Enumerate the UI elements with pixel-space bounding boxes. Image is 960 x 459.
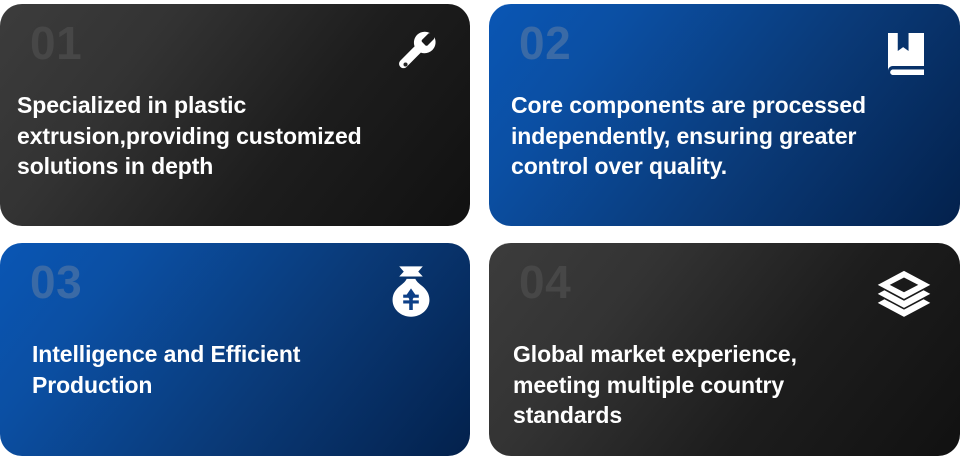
wrench-icon: [388, 26, 444, 82]
feature-card-02[interactable]: 02 Core components are processed indepen…: [489, 4, 960, 226]
card-title: Global market experience, meeting multip…: [513, 339, 936, 431]
card-title: Core components are processed independen…: [511, 90, 936, 182]
card-number: 04: [519, 259, 571, 305]
feature-card-04[interactable]: 04 Global market experience, meeting mul…: [489, 243, 960, 456]
card-inner: 01 Specialized in plastic extrusion,prov…: [0, 4, 470, 226]
card-number: 01: [30, 20, 82, 66]
feature-card-01[interactable]: 01 Specialized in plastic extrusion,prov…: [0, 4, 470, 226]
money-bag-yen-icon: [382, 259, 440, 323]
card-number: 03: [30, 259, 82, 305]
feature-card-grid: 01 Specialized in plastic extrusion,prov…: [0, 0, 960, 459]
layers-stack-icon: [874, 265, 934, 323]
card-number: 02: [519, 20, 571, 66]
card-inner: 04 Global market experience, meeting mul…: [489, 243, 960, 456]
card-title: Intelligence and Efficient Production: [32, 339, 446, 400]
book-bookmark-icon: [878, 26, 934, 82]
card-inner: 03 Intelligence and Efficient Production: [0, 243, 470, 456]
card-title: Specialized in plastic extrusion,providi…: [17, 90, 446, 182]
feature-card-03[interactable]: 03 Intelligence and Efficient Production: [0, 243, 470, 456]
card-inner: 02 Core components are processed indepen…: [489, 4, 960, 226]
